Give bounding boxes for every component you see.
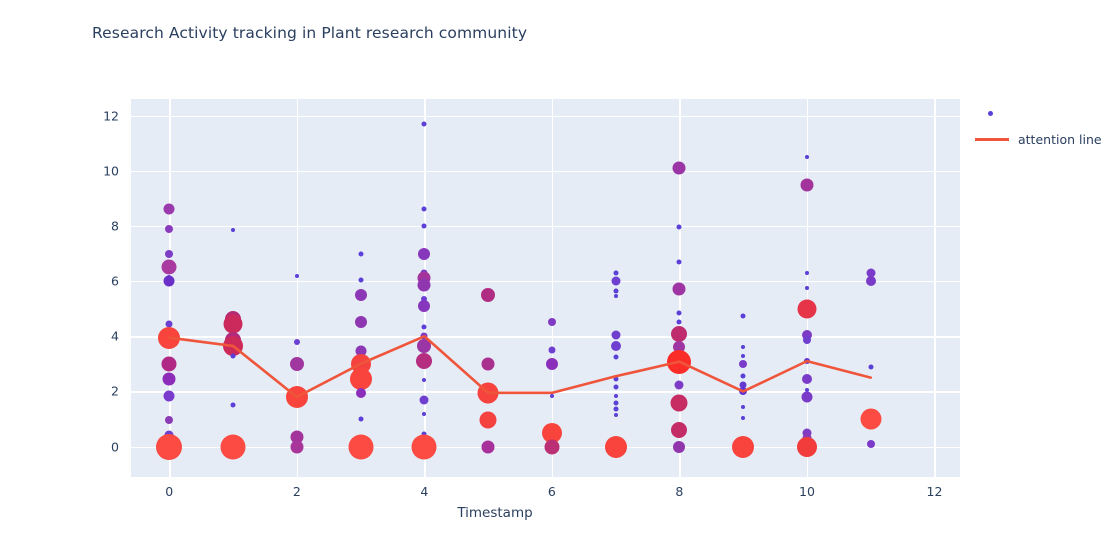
scatter-bubble[interactable] xyxy=(613,354,618,359)
y-axis-tick-label: 0 xyxy=(79,439,119,454)
scatter-bubble[interactable] xyxy=(866,276,876,286)
scatter-bubble[interactable] xyxy=(732,436,754,458)
scatter-bubble[interactable] xyxy=(480,412,497,429)
y-axis-tick-label: 4 xyxy=(79,329,119,344)
line-segment-icon xyxy=(975,138,1009,141)
scatter-bubble[interactable] xyxy=(356,388,366,398)
x-axis-tick-label: 6 xyxy=(532,484,572,499)
legend: attention line xyxy=(972,100,1117,152)
gridline-horizontal xyxy=(131,336,960,337)
attention-line xyxy=(131,99,960,477)
scatter-bubble[interactable] xyxy=(611,330,620,339)
scatter-bubble[interactable] xyxy=(613,385,618,390)
x-axis-label: Timestamp xyxy=(457,505,532,521)
scatter-bubble[interactable] xyxy=(671,394,688,411)
scatter-bubble[interactable] xyxy=(165,225,173,233)
scatter-bubble[interactable] xyxy=(418,248,430,260)
y-axis-tick-label: 12 xyxy=(79,108,119,123)
scatter-bubble[interactable] xyxy=(162,356,177,371)
scatter-bubble[interactable] xyxy=(158,327,180,349)
scatter-bubble[interactable] xyxy=(231,228,235,232)
scatter-bubble[interactable] xyxy=(482,357,495,370)
chart-figure: Research Activity tracking in Plant rese… xyxy=(0,0,1117,542)
x-axis-tick-mark xyxy=(934,477,935,482)
gridline-horizontal xyxy=(131,281,960,282)
x-axis-tick-mark xyxy=(297,477,298,482)
legend-swatch-line xyxy=(972,129,1012,149)
legend-label-attention-line: attention line xyxy=(1012,132,1102,147)
scatter-bubble[interactable] xyxy=(350,368,372,390)
scatter-bubble[interactable] xyxy=(165,250,173,258)
scatter-bubble[interactable] xyxy=(221,434,246,459)
gridline-horizontal xyxy=(131,226,960,227)
scatter-bubble[interactable] xyxy=(677,259,682,264)
scatter-bubble[interactable] xyxy=(358,277,363,282)
y-axis-tick-label: 2 xyxy=(79,384,119,399)
scatter-bubble[interactable] xyxy=(548,318,556,326)
scatter-bubble[interactable] xyxy=(294,339,300,345)
scatter-bubble[interactable] xyxy=(422,324,427,329)
scatter-bubble[interactable] xyxy=(358,417,363,422)
scatter-bubble[interactable] xyxy=(667,350,691,374)
scatter-bubble[interactable] xyxy=(613,270,618,275)
scatter-bubble[interactable] xyxy=(741,405,745,409)
x-axis-tick-mark xyxy=(552,477,553,482)
scatter-bubble[interactable] xyxy=(164,276,175,287)
y-axis-tick-label: 8 xyxy=(79,218,119,233)
scatter-bubble[interactable] xyxy=(422,121,427,126)
scatter-bubble[interactable] xyxy=(156,434,182,460)
scatter-bubble[interactable] xyxy=(802,374,812,384)
gridline-vertical xyxy=(552,99,553,477)
scatter-bubble[interactable] xyxy=(165,416,173,424)
scatter-bubble[interactable] xyxy=(482,440,495,453)
scatter-bubble[interactable] xyxy=(548,347,555,354)
scatter-bubble[interactable] xyxy=(231,353,236,358)
scatter-bubble[interactable] xyxy=(739,387,747,395)
scatter-bubble[interactable] xyxy=(420,395,429,404)
scatter-bubble[interactable] xyxy=(675,380,684,389)
scatter-bubble[interactable] xyxy=(800,178,813,191)
scatter-bubble[interactable] xyxy=(550,394,554,398)
scatter-bubble[interactable] xyxy=(611,341,621,351)
legend-swatch-dot xyxy=(972,103,1012,123)
scatter-bubble[interactable] xyxy=(422,378,426,382)
scatter-bubble[interactable] xyxy=(162,260,177,275)
plot-area xyxy=(131,99,960,477)
scatter-bubble[interactable] xyxy=(805,271,809,275)
scatter-bubble[interactable] xyxy=(355,289,367,301)
scatter-bubble[interactable] xyxy=(677,310,682,315)
gridline-horizontal xyxy=(131,116,960,117)
scatter-bubble[interactable] xyxy=(739,360,747,368)
gridline-vertical xyxy=(297,99,298,477)
scatter-bubble[interactable] xyxy=(614,394,618,398)
x-axis-tick-mark xyxy=(169,477,170,482)
scatter-bubble[interactable] xyxy=(224,314,243,333)
scatter-bubble[interactable] xyxy=(860,409,881,430)
scatter-bubble[interactable] xyxy=(416,353,432,369)
scatter-bubble[interactable] xyxy=(164,204,175,215)
scatter-bubble[interactable] xyxy=(801,391,812,402)
y-axis-tick-label: 10 xyxy=(79,163,119,178)
scatter-bubble[interactable] xyxy=(478,382,499,403)
scatter-bubble[interactable] xyxy=(613,400,618,405)
scatter-bubble[interactable] xyxy=(412,434,437,459)
x-axis-tick-label: 2 xyxy=(277,484,317,499)
legend-item-attention-line[interactable]: attention line xyxy=(972,126,1117,152)
scatter-bubble[interactable] xyxy=(803,336,811,344)
scatter-bubble[interactable] xyxy=(741,345,745,349)
scatter-bubble[interactable] xyxy=(613,407,618,412)
scatter-bubble[interactable] xyxy=(611,277,620,286)
x-axis-tick-label: 0 xyxy=(149,484,189,499)
x-axis-tick-mark xyxy=(424,477,425,482)
scatter-bubble[interactable] xyxy=(164,390,175,401)
scatter-bubble[interactable] xyxy=(605,436,627,458)
scatter-bubble[interactable] xyxy=(797,437,817,457)
scatter-bubble[interactable] xyxy=(481,288,495,302)
x-axis-tick-label: 4 xyxy=(404,484,444,499)
scatter-bubble[interactable] xyxy=(677,320,682,325)
x-axis-tick-label: 10 xyxy=(787,484,827,499)
scatter-bubble[interactable] xyxy=(290,357,304,371)
gridline-vertical xyxy=(934,99,935,477)
scatter-bubble[interactable] xyxy=(348,434,373,459)
scatter-bubble[interactable] xyxy=(546,358,558,370)
scatter-bubble[interactable] xyxy=(868,364,873,369)
scatter-bubble[interactable] xyxy=(804,358,810,364)
scatter-bubble[interactable] xyxy=(671,422,687,438)
scatter-bubble[interactable] xyxy=(867,440,875,448)
gridline-horizontal xyxy=(131,171,960,172)
scatter-bubble[interactable] xyxy=(417,339,431,353)
scatter-bubble[interactable] xyxy=(805,155,809,159)
legend-item-marker[interactable] xyxy=(972,100,1117,126)
scatter-bubble[interactable] xyxy=(422,207,427,212)
scatter-bubble[interactable] xyxy=(613,377,618,382)
scatter-bubble[interactable] xyxy=(741,374,746,379)
x-axis-tick-label: 12 xyxy=(914,484,954,499)
scatter-bubble[interactable] xyxy=(163,373,176,386)
scatter-bubble[interactable] xyxy=(544,439,559,454)
scatter-bubble[interactable] xyxy=(671,326,687,342)
scatter-bubble[interactable] xyxy=(741,313,746,318)
scatter-bubble[interactable] xyxy=(422,223,427,228)
x-axis-tick-label: 8 xyxy=(659,484,699,499)
scatter-bubble[interactable] xyxy=(355,316,367,328)
page-title: Research Activity tracking in Plant rese… xyxy=(92,24,527,42)
scatter-bubble[interactable] xyxy=(673,283,686,296)
scatter-bubble[interactable] xyxy=(741,416,745,420)
y-axis-tick-label: 6 xyxy=(79,274,119,289)
scatter-bubble[interactable] xyxy=(418,279,431,292)
scatter-bubble[interactable] xyxy=(613,288,618,293)
scatter-bubble[interactable] xyxy=(614,413,618,417)
scatter-bubble[interactable] xyxy=(677,225,682,230)
scatter-bubble[interactable] xyxy=(286,386,308,408)
scatter-bubble[interactable] xyxy=(358,251,363,256)
scatter-bubble[interactable] xyxy=(231,403,236,408)
scatter-bubble[interactable] xyxy=(290,440,303,453)
scatter-bubble[interactable] xyxy=(797,299,816,318)
scatter-dot-icon xyxy=(988,111,993,116)
scatter-bubble[interactable] xyxy=(295,274,299,278)
scatter-bubble[interactable] xyxy=(614,294,618,298)
scatter-bubble[interactable] xyxy=(805,286,809,290)
scatter-bubble[interactable] xyxy=(673,441,685,453)
scatter-bubble[interactable] xyxy=(418,300,430,312)
scatter-bubble[interactable] xyxy=(673,161,686,174)
x-axis-tick-mark xyxy=(679,477,680,482)
gridline-horizontal xyxy=(131,391,960,392)
scatter-bubble[interactable] xyxy=(422,412,426,416)
x-axis-tick-mark xyxy=(807,477,808,482)
scatter-bubble[interactable] xyxy=(741,354,745,358)
